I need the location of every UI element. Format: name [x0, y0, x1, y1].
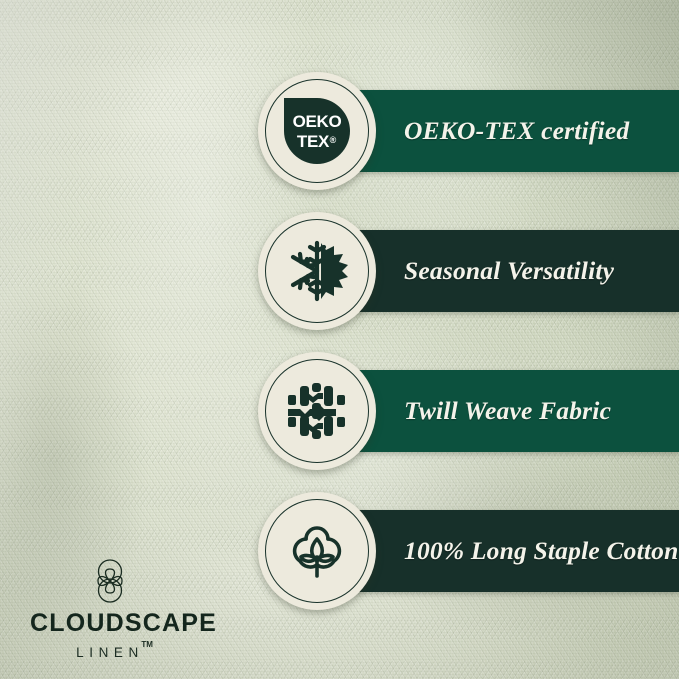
- svg-text:OEKO: OEKO: [293, 112, 342, 131]
- brand-subtitle: LINEN: [76, 645, 144, 660]
- snowflake-sun-icon: [265, 219, 369, 323]
- trademark-symbol: TM: [141, 640, 153, 649]
- product-feature-image: OEKO-TEX certified OEKO TEX ® Seasonal V…: [0, 0, 679, 679]
- svg-text:TEX: TEX: [297, 132, 330, 151]
- brand-name: CLOUDSCAPE: [30, 611, 190, 636]
- feature-row: Seasonal Versatility: [0, 212, 679, 330]
- feature-label: 100% Long Staple Cotton: [404, 536, 679, 566]
- oeko-tex-logo-icon: OEKO TEX ®: [265, 79, 369, 183]
- double-circle-flower-logo-icon: [30, 558, 190, 604]
- feature-badge-long-staple-cotton: [258, 492, 376, 610]
- brand-logo: CLOUDSCAPE LINEN TM: [30, 558, 190, 662]
- feature-label: Twill Weave Fabric: [404, 396, 611, 426]
- feature-badge-twill-weave: [258, 352, 376, 470]
- brand-subtitle-wrap: LINEN TM: [76, 644, 144, 662]
- svg-text:®: ®: [330, 135, 337, 145]
- feature-label: Seasonal Versatility: [404, 256, 614, 286]
- feature-label: OEKO-TEX certified: [404, 116, 629, 146]
- feature-badge-seasonal-versatility: [258, 212, 376, 330]
- feature-row: Twill Weave Fabric: [0, 352, 679, 470]
- woven-fabric-icon: [265, 359, 369, 463]
- cotton-boll-icon: [265, 499, 369, 603]
- feature-badge-oeko-tex: OEKO TEX ®: [258, 72, 376, 190]
- feature-row: OEKO-TEX certified OEKO TEX ®: [0, 72, 679, 190]
